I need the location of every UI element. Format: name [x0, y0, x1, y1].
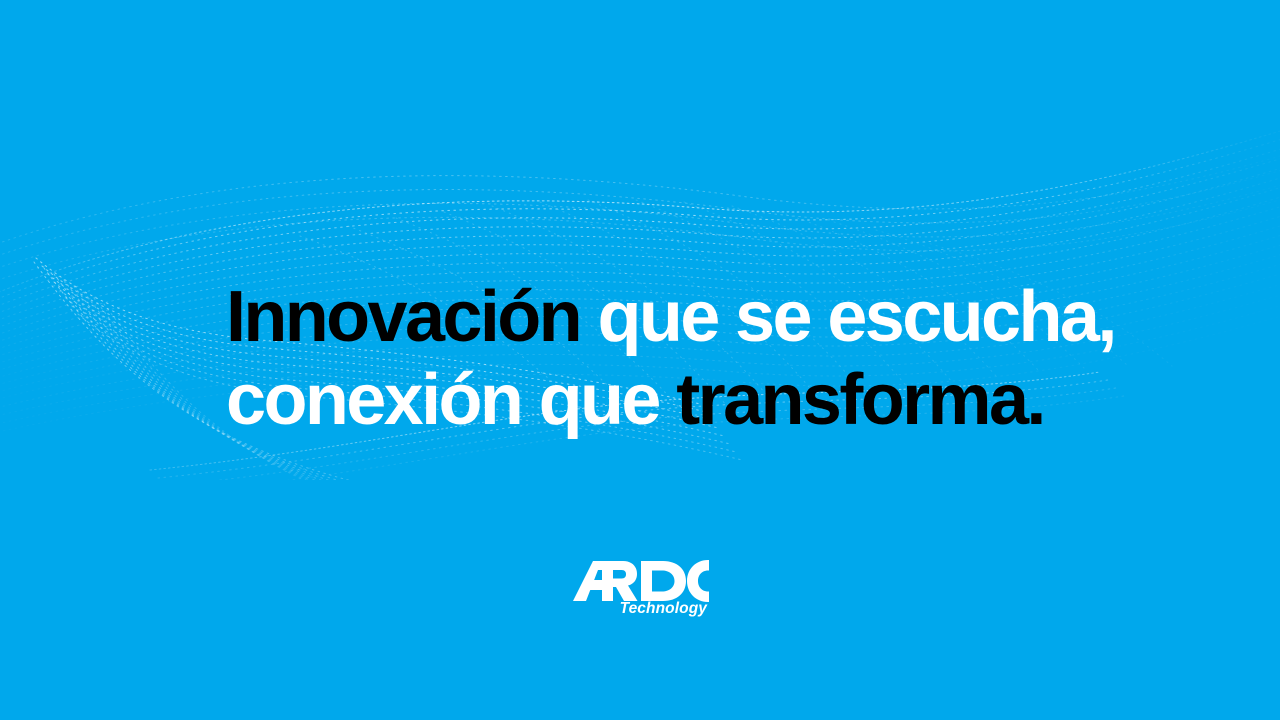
logo-tagline: Technology [620, 600, 707, 618]
logo-stack: Technology [571, 560, 709, 618]
brand-logo: Technology [0, 560, 1280, 618]
ardo-wordmark-icon [571, 560, 709, 602]
headline-line-1: Innovación que se escucha, [226, 276, 1126, 359]
headline-line-2-light-segment: conexión que [226, 360, 676, 440]
headline: Innovación que se escucha, conexión que … [226, 276, 1126, 442]
headline-line-1-light-segment: que se escucha, [597, 277, 1114, 357]
slide-canvas: Innovación que se escucha, conexión que … [0, 0, 1280, 720]
headline-line-2: conexión que transforma. [226, 359, 1126, 442]
headline-line-1-dark-segment: Innovación [226, 277, 597, 357]
headline-line-2-dark-segment: transforma. [676, 360, 1044, 440]
